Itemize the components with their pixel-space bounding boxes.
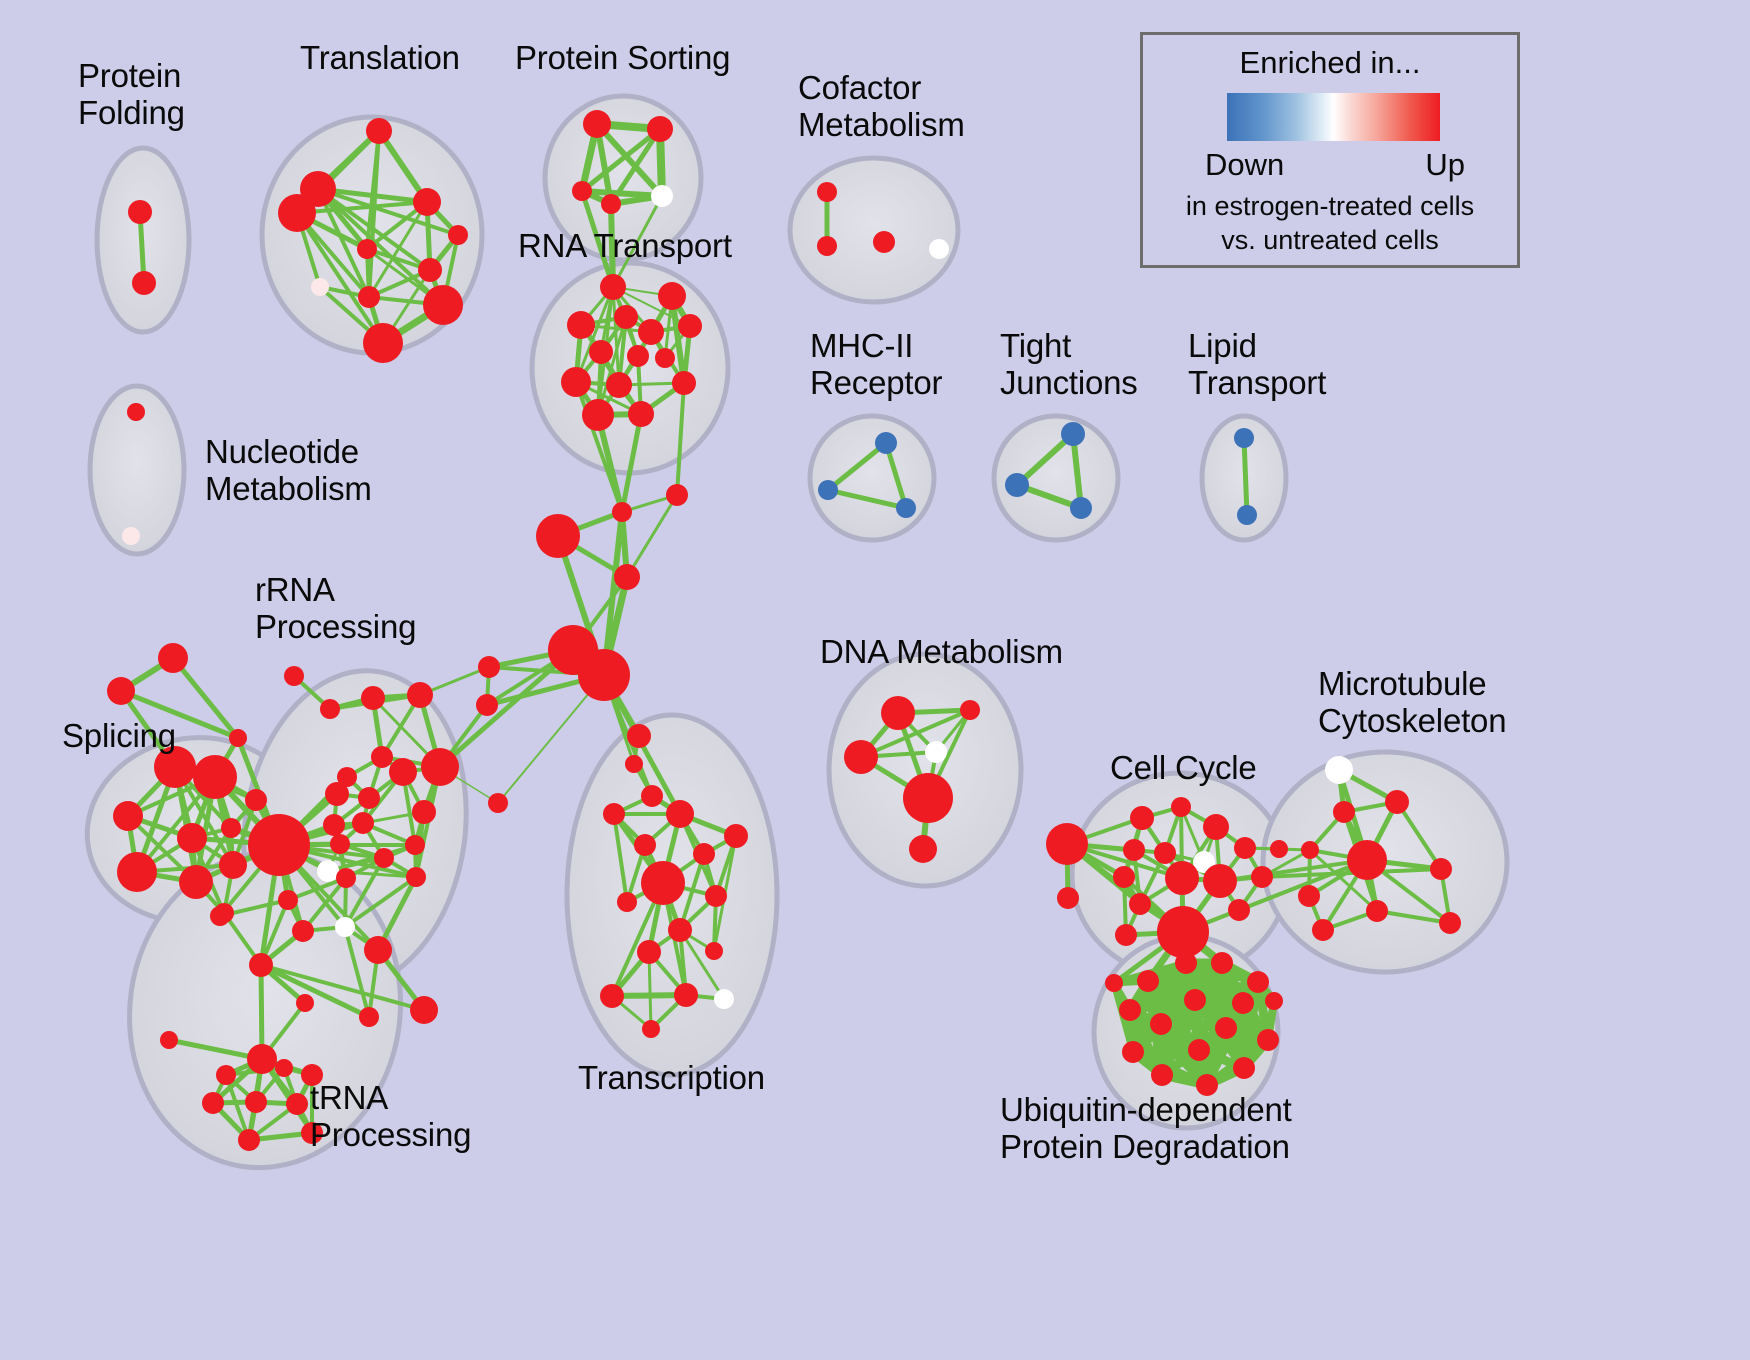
gene-set-node[interactable] [666,484,688,506]
gene-set-node[interactable] [413,188,441,216]
gene-set-node[interactable] [1165,861,1199,895]
color-gradient-bar [1227,93,1440,141]
gene-set-node[interactable] [1439,912,1461,934]
gene-set-node[interactable] [1232,992,1254,1014]
cluster-label-translation: Translation [300,40,460,77]
gene-set-node[interactable] [668,918,692,942]
gene-set-node[interactable] [1233,1057,1255,1079]
gene-set-node[interactable] [389,758,417,786]
gene-set-node[interactable] [925,741,947,763]
gene-set-node[interactable] [323,814,345,836]
gene-set-node[interactable] [1171,797,1191,817]
gene-set-node[interactable] [637,940,661,964]
gene-set-node[interactable] [132,271,156,295]
gene-set-node[interactable] [405,835,425,855]
gene-set-node[interactable] [238,1129,260,1151]
cluster-label-cofactor: Cofactor Metabolism [798,70,965,144]
gene-set-node[interactable] [601,194,621,214]
gene-set-node[interactable] [363,323,403,363]
gene-set-node[interactable] [1129,893,1151,915]
gene-set-node[interactable] [1113,866,1135,888]
gene-set-node[interactable] [245,1091,267,1113]
cluster-label-tight-junctions: Tight Junctions [1000,328,1138,402]
gene-set-node[interactable] [1154,842,1176,864]
gene-set-node[interactable] [219,851,247,879]
gene-set-node[interactable] [1347,840,1387,880]
gene-set-node[interactable] [1184,989,1206,1011]
gene-set-node[interactable] [336,868,356,888]
gene-set-node[interactable] [578,649,630,701]
gene-set-node[interactable] [1137,970,1159,992]
gene-set-node[interactable] [600,984,624,1008]
gene-set-node[interactable] [128,200,152,224]
gene-set-node[interactable] [296,994,314,1012]
gene-set-node[interactable] [844,740,878,774]
legend-panel: Enriched in... Down Up in estrogen-treat… [1140,32,1520,268]
gene-set-node[interactable] [366,118,392,144]
gene-set-node[interactable] [1270,840,1288,858]
gene-set-node[interactable] [1312,919,1334,941]
gene-set-node[interactable] [1385,790,1409,814]
cluster-label-mhc2: MHC-II Receptor [810,328,942,402]
gene-set-node[interactable] [614,564,640,590]
gene-set-node[interactable] [406,867,426,887]
legend-up-label: Up [1425,147,1465,183]
gene-set-node[interactable] [358,286,380,308]
gene-set-node[interactable] [423,285,463,325]
gene-set-node[interactable] [418,258,442,282]
gene-set-node[interactable] [1105,974,1123,992]
gene-set-node[interactable] [536,514,580,558]
gene-set-node[interactable] [1333,801,1355,823]
gene-set-node[interactable] [714,989,734,1009]
gene-set-node[interactable] [358,787,380,809]
gene-set-node[interactable] [1366,900,1388,922]
gene-set-node[interactable] [1151,1064,1173,1086]
gene-set-node[interactable] [678,314,702,338]
gene-set-node[interactable] [248,814,310,876]
gene-set-node[interactable] [1119,999,1141,1021]
gene-set-node[interactable] [364,936,392,964]
gene-set-node[interactable] [817,182,837,202]
gene-set-node[interactable] [107,677,135,705]
gene-set-node[interactable] [286,1093,308,1115]
gene-set-node[interactable] [1005,473,1029,497]
gene-set-node[interactable] [817,236,837,256]
gene-set-node[interactable] [278,890,298,910]
gene-set-node[interactable] [1257,1029,1279,1051]
gene-set-node[interactable] [1228,899,1250,921]
gene-set-node[interactable] [410,996,438,1024]
gene-set-node[interactable] [325,782,349,806]
gene-set-node[interactable] [674,983,698,1007]
gene-set-node[interactable] [1430,858,1452,880]
gene-set-node[interactable] [320,699,340,719]
gene-set-node[interactable] [1203,864,1237,898]
gene-set-node[interactable] [875,432,897,454]
gene-set-node[interactable] [179,865,213,899]
legend-subtitle-line2: vs. untreated cells [1143,225,1517,256]
gene-set-node[interactable] [628,401,654,427]
gene-set-node[interactable] [1211,952,1233,974]
cluster-label-protein-sorting: Protein Sorting [515,40,730,77]
gene-set-node[interactable] [330,834,350,854]
gene-set-node[interactable] [317,860,339,882]
gene-set-node[interactable] [357,239,377,259]
gene-set-node[interactable] [284,666,304,686]
gene-set-node[interactable] [113,801,143,831]
gene-set-node[interactable] [476,694,498,716]
gene-set-node[interactable] [929,239,949,259]
cluster-label-splicing: Splicing [62,718,176,755]
gene-set-node[interactable] [1237,505,1257,525]
gene-set-node[interactable] [278,194,316,232]
gene-set-node[interactable] [292,920,314,942]
gene-set-node[interactable] [1234,428,1254,448]
gene-set-node[interactable] [202,1092,224,1114]
gene-set-node[interactable] [177,823,207,853]
gene-set-node[interactable] [1175,952,1197,974]
gene-set-node[interactable] [641,785,663,807]
gene-set-node[interactable] [122,527,140,545]
gene-set-node[interactable] [641,861,685,905]
gene-set-node[interactable] [158,643,188,673]
gene-set-node[interactable] [371,746,393,768]
gene-set-node[interactable] [903,773,953,823]
gene-set-node[interactable] [1234,837,1256,859]
gene-set-node[interactable] [216,1065,236,1085]
gene-set-node[interactable] [229,729,247,747]
gene-set-node[interactable] [818,480,838,500]
legend-down-label: Down [1205,147,1284,183]
gene-set-node[interactable] [448,225,468,245]
cluster-label-protein-folding: Protein Folding [78,58,185,132]
cluster-label-trna-processing: tRNA Processing [310,1080,471,1154]
cluster-ellipse-mhc2[interactable] [810,416,934,540]
gene-set-node[interactable] [909,835,937,863]
gene-set-node[interactable] [625,755,643,773]
cluster-label-dna-metabolism: DNA Metabolism [820,634,1063,671]
gene-set-node[interactable] [249,953,273,977]
gene-set-node[interactable] [1265,992,1283,1010]
gene-set-node[interactable] [600,274,626,300]
gene-set-node[interactable] [352,812,374,834]
gene-set-node[interactable] [359,1007,379,1027]
gene-set-node[interactable] [245,789,267,811]
gene-set-node[interactable] [561,367,591,397]
gene-set-node[interactable] [1150,1013,1172,1035]
gene-set-node[interactable] [873,231,895,253]
gene-set-node[interactable] [311,278,329,296]
gene-set-node[interactable] [896,498,916,518]
gene-set-node[interactable] [567,311,595,339]
gene-set-node[interactable] [614,305,638,329]
gene-set-node[interactable] [693,843,715,865]
gene-set-node[interactable] [705,942,723,960]
gene-set-node[interactable] [1247,971,1269,993]
gene-set-node[interactable] [117,852,157,892]
cluster-label-lipid-transport: Lipid Transport [1188,328,1326,402]
gene-set-node[interactable] [1130,806,1154,830]
gene-set-node[interactable] [1188,1039,1210,1061]
gene-set-node[interactable] [1122,1041,1144,1063]
gene-set-node[interactable] [627,345,649,367]
gene-set-node[interactable] [612,502,632,522]
gene-set-node[interactable] [374,848,394,868]
gene-set-node[interactable] [127,403,145,421]
gene-set-node[interactable] [724,824,748,848]
gene-set-node[interactable] [666,800,694,828]
cluster-label-microtubule: Microtubule Cytoskeleton [1318,666,1506,740]
gene-set-node[interactable] [1070,497,1092,519]
gene-set-node[interactable] [275,1059,293,1077]
gene-set-node[interactable] [1203,814,1229,840]
gene-set-node[interactable] [960,700,980,720]
gene-set-node[interactable] [1215,1017,1237,1039]
gene-set-node[interactable] [478,656,500,678]
gene-set-node[interactable] [1057,887,1079,909]
gene-set-node[interactable] [642,1020,660,1038]
legend-title: Enriched in... [1143,45,1517,81]
gene-set-node[interactable] [1325,756,1353,784]
gene-set-node[interactable] [160,1031,178,1049]
gene-set-node[interactable] [606,372,632,398]
gene-set-node[interactable] [1115,924,1137,946]
gene-set-node[interactable] [638,319,664,345]
cluster-label-rrna-processing: rRNA Processing [255,572,416,646]
gene-set-node[interactable] [655,348,675,368]
gene-set-node[interactable] [1251,866,1273,888]
gene-set-node[interactable] [881,696,915,730]
cluster-label-nucleotide: Nucleotide Metabolism [205,434,372,508]
gene-set-node[interactable] [647,116,673,142]
gene-set-node[interactable] [1123,839,1145,861]
cluster-ellipse-cofactor[interactable] [790,158,958,302]
legend-subtitle-line1: in estrogen-treated cells [1143,191,1517,222]
gene-set-node[interactable] [651,185,673,207]
enrichment-network-figure: Protein FoldingTranslationProtein Sortin… [0,0,1750,1360]
gene-set-node[interactable] [603,803,625,825]
gene-set-node[interactable] [589,340,613,364]
gene-set-node[interactable] [1157,906,1209,958]
cluster-label-cell-cycle: Cell Cycle [1110,750,1257,787]
cluster-label-transcription: Transcription [578,1060,765,1097]
cluster-label-ubiquitin: Ubiquitin-dependent Protein Degradation [1000,1092,1292,1166]
gene-set-node[interactable] [1301,841,1319,859]
gene-set-node[interactable] [335,917,355,937]
gene-set-node[interactable] [572,181,592,201]
gene-set-node[interactable] [1046,823,1088,865]
gene-set-node[interactable] [247,1044,277,1074]
gene-set-node[interactable] [1061,422,1085,446]
gene-set-node[interactable] [582,399,614,431]
gene-set-node[interactable] [1298,885,1320,907]
gene-set-node[interactable] [617,892,637,912]
gene-set-node[interactable] [193,755,237,799]
gene-set-node[interactable] [421,748,459,786]
gene-set-node[interactable] [488,793,508,813]
gene-set-node[interactable] [658,282,686,310]
edge[interactable] [1244,438,1247,515]
gene-set-node[interactable] [627,724,651,748]
cluster-label-rna-transport: RNA Transport [518,228,732,265]
gene-set-node[interactable] [361,686,385,710]
gene-set-node[interactable] [412,800,436,824]
gene-set-node[interactable] [634,834,656,856]
gene-set-node[interactable] [583,110,611,138]
gene-set-node[interactable] [221,818,241,838]
gene-set-node[interactable] [672,371,696,395]
gene-set-node[interactable] [705,885,727,907]
gene-set-node[interactable] [210,906,230,926]
gene-set-node[interactable] [407,682,433,708]
